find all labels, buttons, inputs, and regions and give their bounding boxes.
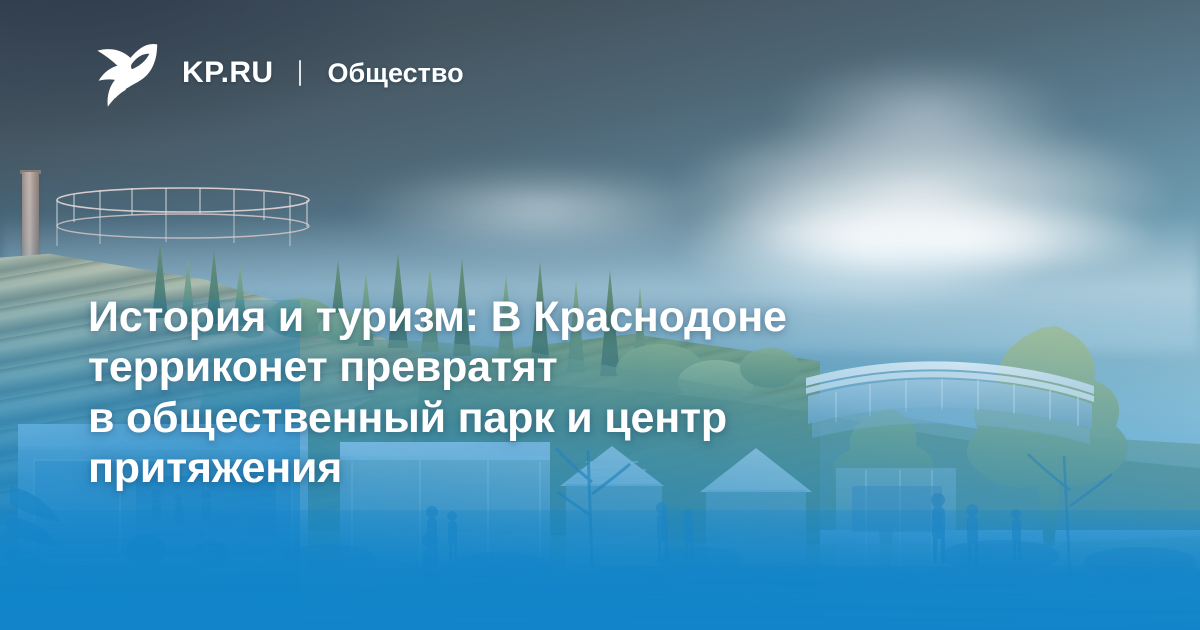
- rubric-label[interactable]: Общество: [327, 60, 463, 87]
- headline-line-4: притяжения: [88, 443, 1078, 493]
- page-title: История и туризм: В Краснодоне терриконе…: [88, 292, 1078, 493]
- card-header: KP.RU Общество: [96, 38, 464, 108]
- social-card: KP.RU Общество История и туризм: В Красн…: [0, 0, 1200, 630]
- brand-name[interactable]: KP.RU: [182, 58, 273, 88]
- headline-line-2: терриконет превратят: [88, 342, 1078, 392]
- header-separator: [299, 60, 301, 86]
- headline-line-1: История и туризм: В Краснодоне: [88, 292, 1078, 342]
- swallow-bird-logo-icon[interactable]: [96, 38, 158, 108]
- headline-line-3: в общественный парк и центр: [88, 393, 1078, 443]
